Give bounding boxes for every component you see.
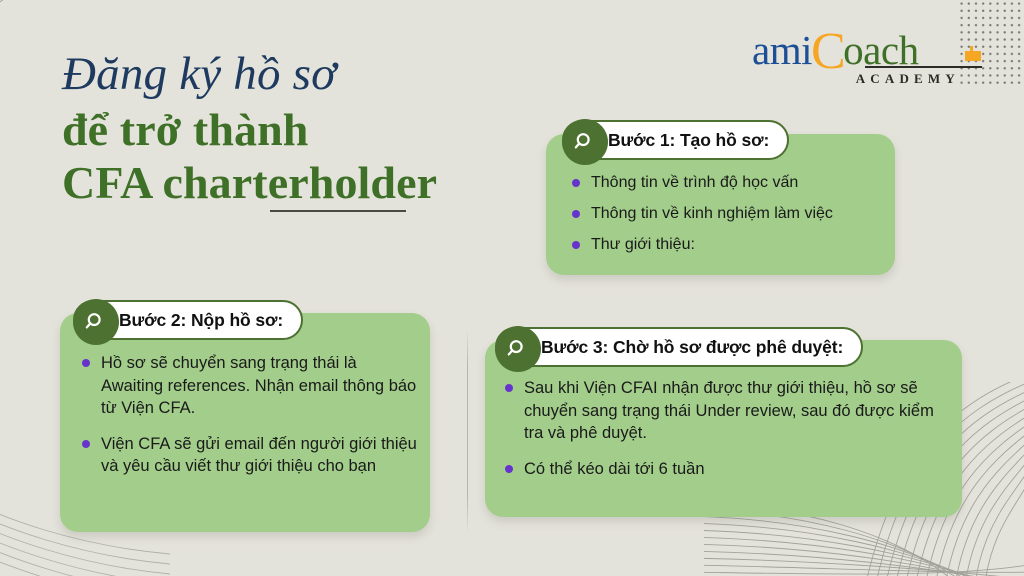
page-title: Đăng ký hồ sơ để trở thành CFA charterho… bbox=[62, 48, 582, 209]
brand-logo-flag-icon bbox=[965, 51, 981, 61]
step-card-3-title: Bước 3: Chờ hồ sơ được phê duyệt: bbox=[541, 337, 843, 358]
step-card-1: Bước 1: Tạo hồ sơ: Thông tin về trình độ… bbox=[546, 120, 898, 275]
list-item: Hồ sơ sẽ chuyển sang trạng thái là Await… bbox=[80, 352, 422, 420]
brand-logo-rule bbox=[865, 66, 982, 68]
brand-logo-wordmark: amiCoach bbox=[752, 26, 982, 70]
brand-logo-academy: ACADEMY bbox=[752, 71, 982, 87]
step-card-1-header: Bước 1: Tạo hồ sơ: bbox=[562, 120, 789, 160]
brand-logo-ami: ami bbox=[752, 27, 812, 73]
step-card-1-title: Bước 1: Tạo hồ sơ: bbox=[608, 130, 769, 151]
step-card-3-list: Sau khi Viện CFAI nhận được thư giới thi… bbox=[485, 377, 964, 493]
list-item: Thông tin về kinh nghiệm làm việc bbox=[570, 203, 898, 225]
vertical-divider bbox=[467, 329, 468, 534]
page-title-line-3: CFA charterholder bbox=[62, 156, 582, 209]
list-item: Viện CFA sẽ gửi email đến người giới thi… bbox=[80, 433, 422, 478]
step-card-2-header: Bước 2: Nộp hồ sơ: bbox=[73, 300, 303, 340]
step-card-3-header: Bước 3: Chờ hồ sơ được phê duyệt: bbox=[495, 327, 863, 367]
search-icon bbox=[495, 326, 541, 372]
page-title-line-2: để trở thành bbox=[62, 103, 582, 156]
page-title-line-1: Đăng ký hồ sơ bbox=[62, 48, 582, 101]
list-item: Thông tin về trình độ học vấn bbox=[570, 172, 898, 194]
list-item: Sau khi Viện CFAI nhận được thư giới thi… bbox=[503, 377, 942, 445]
step-card-1-list: Thông tin về trình độ học vấn Thông tin … bbox=[546, 172, 898, 265]
list-item: Có thể kéo dài tới 6 tuần bbox=[503, 458, 942, 481]
brand-logo: amiCoach ACADEMY bbox=[752, 26, 982, 88]
list-item: Thư giới thiệu: bbox=[570, 234, 898, 256]
page-title-underline bbox=[270, 210, 406, 212]
step-card-2-title: Bước 2: Nộp hồ sơ: bbox=[119, 310, 283, 331]
slide-canvas: Đăng ký hồ sơ để trở thành CFA charterho… bbox=[0, 0, 1024, 576]
step-card-2-list: Hồ sơ sẽ chuyển sang trạng thái là Await… bbox=[60, 352, 432, 491]
brand-logo-c: C bbox=[811, 23, 845, 80]
step-card-3: Bước 3: Chờ hồ sơ được phê duyệt: Sau kh… bbox=[485, 327, 964, 517]
search-icon bbox=[73, 299, 119, 345]
step-card-2: Bước 2: Nộp hồ sơ: Hồ sơ sẽ chuyển sang … bbox=[60, 300, 432, 532]
search-icon bbox=[562, 119, 608, 165]
